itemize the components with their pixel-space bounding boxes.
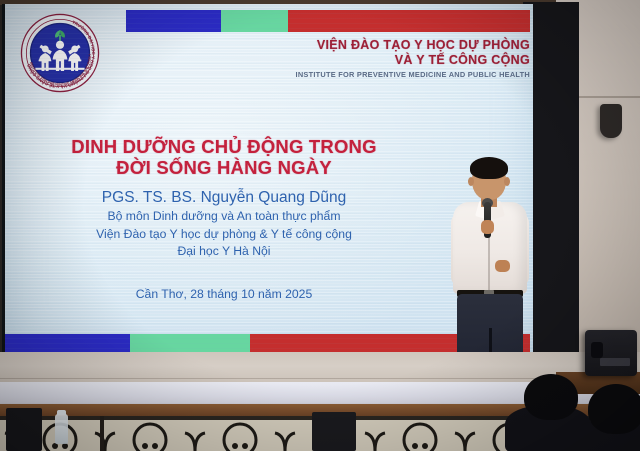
water-bottle <box>55 414 68 444</box>
presenter-hair <box>470 157 508 179</box>
screenshot-root: TRƯỜNG ĐẠI HỌC Y HỌC DỰ PHÒNG VÀ Y TẾ CÔ… <box>0 0 640 451</box>
railing-post <box>100 416 104 451</box>
presenter-ear-left <box>468 177 474 186</box>
slide-title-line2: ĐỜI SỐNG HÀNG NGÀY <box>19 157 429 178</box>
presenter-block: PGS. TS. BS. Nguyễn Quang Dũng Bộ môn Di… <box>19 188 429 261</box>
camera-brand-label <box>600 358 630 366</box>
foreground-chair <box>312 412 356 451</box>
institute-seal-logo: TRƯỜNG ĐẠI HỌC Y HỌC DỰ PHÒNG VÀ Y TẾ CÔ… <box>19 12 101 94</box>
affiliation-line2: Viện Đào tạo Y học dự phòng & Y tế công … <box>19 226 429 244</box>
color-bar-blue-segment <box>126 10 221 32</box>
slide-title: DINH DƯỠNG CHỦ ĐỘNG TRONG ĐỜI SỐNG HÀNG … <box>19 136 429 178</box>
wall-speaker-icon <box>600 104 622 138</box>
affiliation-line1: Bộ môn Dinh dưỡng và An toàn thực phẩm <box>19 208 429 226</box>
header-color-bar <box>126 10 530 32</box>
audience-head <box>588 384 640 434</box>
slide-title-line1: DINH DƯỠNG CHỦ ĐỘNG TRONG <box>19 136 429 157</box>
institute-name-line2: VÀ Y TẾ CÔNG CỘNG <box>205 53 530 68</box>
foreground-chair-back <box>6 408 42 451</box>
color-bar-green-segment <box>221 10 288 32</box>
presenter-ear-right <box>504 177 510 186</box>
camera-lens-icon <box>591 342 603 358</box>
presenter-hand-holding-mic <box>481 220 494 234</box>
water-bottle-cap <box>57 410 66 415</box>
affiliation-line3: Đại học Y Hà Nội <box>19 243 429 261</box>
presenter-name: PGS. TS. BS. Nguyễn Quang Dũng <box>19 188 429 208</box>
footer-bar-green-segment <box>130 334 250 354</box>
institute-name-line1: VIỆN ĐÀO TẠO Y HỌC DỰ PHÒNG <box>205 38 530 53</box>
audience-head <box>524 374 578 420</box>
presenter-other-hand <box>495 260 510 272</box>
slide-date-place: Cần Thơ, 28 tháng 10 năm 2025 <box>19 287 429 301</box>
institute-header: VIỆN ĐÀO TẠO Y HỌC DỰ PHÒNG VÀ Y TẾ CÔNG… <box>205 38 530 79</box>
institute-name-english: INSTITUTE FOR PREVENTIVE MEDICINE AND PU… <box>205 70 530 79</box>
footer-bar-blue-segment <box>5 334 130 354</box>
color-bar-red-segment <box>288 10 530 32</box>
